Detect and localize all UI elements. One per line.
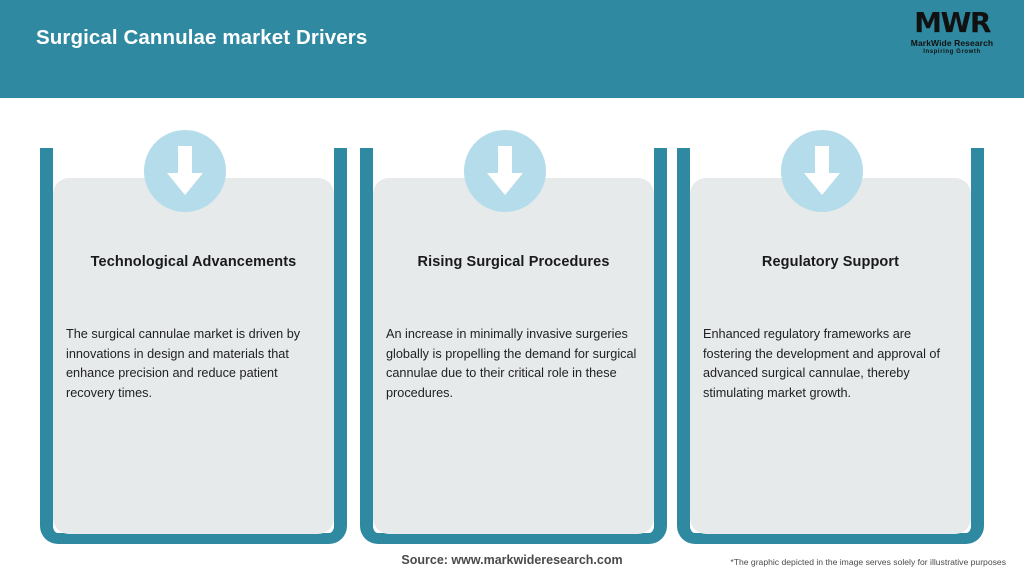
driver-cards-container: Technological Advancements The surgical … xyxy=(0,98,1024,548)
card-title: Rising Surgical Procedures xyxy=(373,254,654,270)
driver-card-3: Regulatory Support Enhanced regulatory f… xyxy=(677,98,984,544)
logo-company-name: MarkWide Research xyxy=(894,38,1010,48)
card-body-text: The surgical cannulae market is driven b… xyxy=(66,325,324,403)
card-title: Regulatory Support xyxy=(690,254,971,270)
card-body-text: Enhanced regulatory frameworks are foste… xyxy=(703,325,961,403)
page-header: Surgical Cannulae market Drivers MWR Mar… xyxy=(0,0,1024,98)
logo-tagline: Inspiring Growth xyxy=(894,48,1010,56)
disclaimer-note: *The graphic depicted in the image serve… xyxy=(730,557,1006,567)
arrow-down-icon xyxy=(464,130,546,212)
brand-logo: MWR MarkWide Research Inspiring Growth xyxy=(894,8,1010,62)
arrow-down-icon xyxy=(781,130,863,212)
card-body-text: An increase in minimally invasive surger… xyxy=(386,325,644,403)
page-title: Surgical Cannulae market Drivers xyxy=(36,26,367,50)
card-surface: Regulatory Support Enhanced regulatory f… xyxy=(690,178,971,534)
card-surface: Rising Surgical Procedures An increase i… xyxy=(373,178,654,534)
card-surface: Technological Advancements The surgical … xyxy=(53,178,334,534)
logo-monogram: MWR xyxy=(894,8,1010,38)
arrow-down-icon xyxy=(144,130,226,212)
card-title: Technological Advancements xyxy=(53,254,334,270)
driver-card-1: Technological Advancements The surgical … xyxy=(40,98,347,544)
driver-card-2: Rising Surgical Procedures An increase i… xyxy=(360,98,667,544)
